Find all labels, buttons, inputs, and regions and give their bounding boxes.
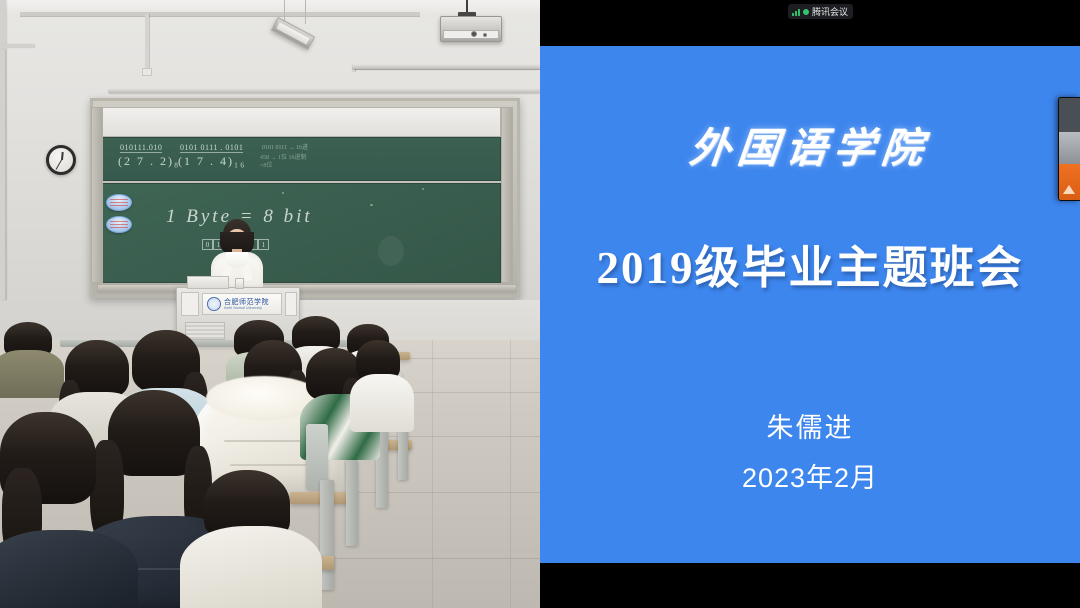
signal-bars-icon — [792, 8, 800, 16]
blackboard-main-section: 1 Byte = 8 bit 0 1 0 0 1 — [101, 183, 501, 283]
board-magnet-1 — [106, 194, 132, 211]
student — [0, 322, 60, 392]
student — [352, 340, 416, 430]
meeting-app-label: 腾讯会议 — [812, 7, 848, 17]
curtain-rail-upper — [352, 64, 540, 69]
meeting-screen: 010111.010 (2 7 . 2)₈ 0101 0111 . 0101 (… — [0, 0, 1080, 608]
presenter-collar — [226, 252, 248, 268]
chalk-note-right-3: =8位 — [260, 160, 272, 169]
board-magnet-2 — [106, 216, 132, 233]
bench-leg — [320, 480, 334, 590]
classroom-camera-feed[interactable]: 010111.010 (2 7 . 2)₈ 0101 0111 . 0101 (… — [0, 0, 540, 608]
presentation-slide[interactable]: 外国语学院 2019级毕业主题班会 朱儒进 2023年2月 — [540, 46, 1080, 563]
chalk-dust — [370, 204, 373, 206]
floor-tile-line-v — [432, 340, 433, 608]
thumbnail-bottom-region — [1059, 164, 1080, 201]
chalk-octal-1: (2 7 . 2)₈ — [118, 154, 180, 169]
blackboard-right-edge — [501, 107, 513, 283]
blackboard: 010111.010 (2 7 . 2)₈ 0101 0111 . 0101 (… — [90, 98, 520, 298]
clock-minute-hand — [56, 160, 62, 170]
student-coat — [350, 374, 414, 432]
ceiling-projector-icon — [440, 16, 502, 42]
curtain-rail-main — [108, 88, 540, 93]
wall-clock-icon — [46, 145, 76, 175]
thumbnail-mid-region — [1059, 132, 1080, 164]
puffer-seam — [230, 464, 316, 466]
chalk-dust — [282, 192, 284, 194]
podium-side-panel — [181, 292, 199, 316]
student — [0, 412, 128, 608]
door-frame-top — [0, 44, 34, 48]
slide-date: 2023年2月 — [540, 456, 1080, 495]
slide-presenter-name: 朱儒进 — [540, 406, 1080, 445]
door-frame-mid — [0, 50, 5, 300]
chalk-dust — [422, 188, 424, 190]
projector-sensor-icon — [483, 33, 487, 37]
chalk-note-right-2: 458 → 1位 16进制 — [260, 152, 307, 161]
slide-heading: 外国语学院 — [540, 114, 1080, 174]
podium-side-panel-right — [285, 292, 297, 316]
chalk-binary-2: 0101 0111 . 0101 — [180, 143, 243, 153]
participant-video-thumbnail[interactable] — [1058, 97, 1080, 201]
floor-tile-line — [300, 558, 540, 559]
thumbnail-top-region — [1059, 98, 1080, 132]
clock-hour-hand — [61, 152, 64, 160]
projector-lens-icon — [471, 31, 477, 37]
student-coat-navy-front — [0, 530, 138, 608]
podium-institution-cn: 合肥师范学院 — [224, 298, 269, 306]
blackboard-left-edge — [91, 107, 103, 283]
chalk-tray — [97, 284, 517, 293]
wall-conduit-vertical — [145, 14, 149, 72]
chalk-binary-1: 010111.010 — [120, 143, 162, 153]
lamp-wire-right — [305, 0, 306, 24]
chalk-smudge — [378, 236, 404, 266]
blackboard-upper-section: 010111.010 (2 7 . 2)₈ 0101 0111 . 0101 (… — [101, 137, 501, 181]
chalk-note-right: 0101 0111 → 16进 — [262, 142, 308, 151]
podium-boxes — [187, 276, 229, 289]
shared-screen-pane[interactable]: 外国语学院 2019级毕业主题班会 朱儒进 2023年2月 — [540, 0, 1080, 608]
student — [186, 470, 316, 608]
student-coat — [180, 526, 322, 608]
slide-title: 2019级毕业主题班会 — [540, 231, 1080, 296]
recording-dot-icon — [803, 9, 809, 15]
wall-switch-box — [142, 68, 152, 76]
university-seal-icon — [207, 297, 221, 311]
podium-institution-en: Hefei Normal University — [224, 306, 269, 311]
blackboard-white-panel — [101, 107, 501, 137]
chalk-hex-1: (1 7 . 4)₁₆ — [178, 154, 246, 169]
podium-cup — [235, 278, 244, 289]
wall-conduit — [20, 12, 420, 16]
bench-leg — [346, 460, 358, 546]
tencent-meeting-indicator[interactable]: 腾讯会议 — [788, 4, 853, 19]
floor-tile-line-v — [510, 340, 511, 608]
podium-nameplate: 合肥师范学院 Hefei Normal University — [202, 293, 282, 315]
